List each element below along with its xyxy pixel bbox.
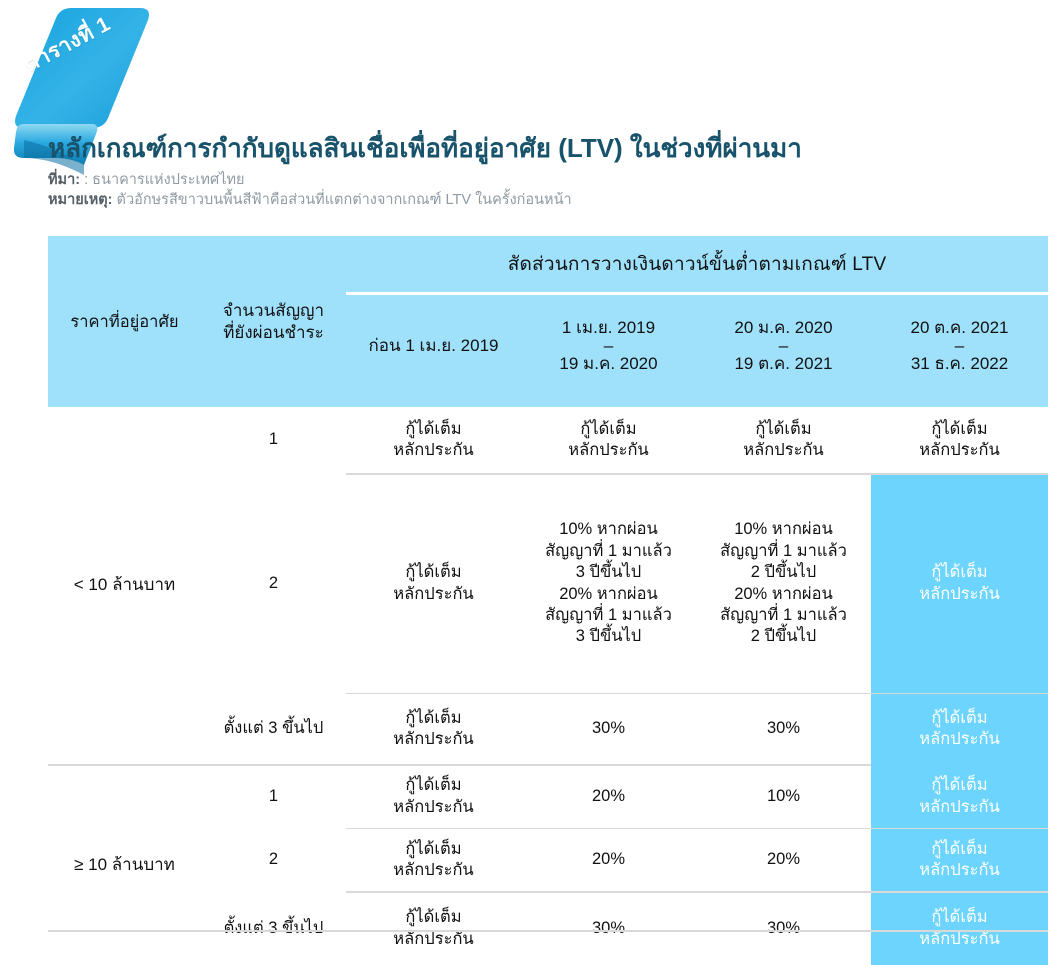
cell-text-line: 20% หากผ่อน xyxy=(521,584,696,605)
header-group-title: สัดส่วนการวางเงินดาวน์ขั้นต่ำตามเกณฑ์ LT… xyxy=(346,236,1048,292)
header-period-1: ก่อน 1 เม.ย. 2019 xyxy=(346,295,521,407)
cell-text-line: หลักประกัน xyxy=(346,929,521,950)
cell-text-line: หลักประกัน xyxy=(346,860,521,881)
value-cell: กู้ได้เต็มหลักประกัน xyxy=(346,407,521,473)
cell-text-line: กู้ได้เต็ม xyxy=(346,907,521,928)
cell-text-line: 20% xyxy=(696,849,871,870)
header-period-4: 20 ต.ค. 2021 – 31 ธ.ค. 2022 xyxy=(871,295,1048,407)
cell-text-line: 20% xyxy=(521,849,696,870)
cell-text-line: สัญญาที่ 1 มาแล้ว xyxy=(696,541,871,562)
cell-text-line: หลักประกัน xyxy=(346,584,521,605)
contract-count-cell: ตั้งแต่ 3 ขึ้นไป xyxy=(201,893,346,965)
value-cell: กู้ได้เต็มหลักประกัน xyxy=(346,475,521,693)
value-cell: 20% xyxy=(521,829,696,891)
value-cell: กู้ได้เต็มหลักประกัน xyxy=(871,407,1048,473)
cell-text-line: กู้ได้เต็ม xyxy=(871,907,1048,928)
header-period-1-line1: ก่อน 1 เม.ย. 2019 xyxy=(346,335,521,357)
table-row: ≥ 10 ล้านบาท1กู้ได้เต็มหลักประกัน20%10%ก… xyxy=(48,766,1048,828)
cell-text-line: หลักประกัน xyxy=(871,729,1048,750)
cell-text-line: หลักประกัน xyxy=(696,440,871,461)
header-price: ราคาที่อยู่อาศัย xyxy=(48,236,201,407)
page-title: หลักเกณฑ์การกำกับดูแลสินเชื่อเพื่อที่อยู… xyxy=(48,134,1038,164)
cell-text-line: 3 ปีขึ้นไป xyxy=(521,562,696,583)
contract-count-cell: 2 xyxy=(201,475,346,693)
cell-text-line: กู้ได้เต็ม xyxy=(346,419,521,440)
cell-text-line: 2 ปีขึ้นไป xyxy=(696,626,871,647)
heading-block: หลักเกณฑ์การกำกับดูแลสินเชื่อเพื่อที่อยู… xyxy=(48,134,1038,211)
cell-text-line: หลักประกัน xyxy=(871,860,1048,881)
cell-text-line: กู้ได้เต็ม xyxy=(871,839,1048,860)
highlighted-value-cell: กู้ได้เต็มหลักประกัน xyxy=(871,893,1048,965)
cell-text-line: กู้ได้เต็ม xyxy=(871,708,1048,729)
price-cell: < 10 ล้านบาท xyxy=(48,407,201,764)
cell-text-line: กู้ได้เต็ม xyxy=(521,419,696,440)
cell-text-line: หลักประกัน xyxy=(346,797,521,818)
header-price-label: ราคาที่อยู่อาศัย xyxy=(70,313,178,331)
table-row: < 10 ล้านบาท1กู้ได้เต็มหลักประกันกู้ได้เ… xyxy=(48,407,1048,473)
value-cell: 10% xyxy=(696,766,871,828)
cell-text-line: สัญญาที่ 1 มาแล้ว xyxy=(521,541,696,562)
table-bottom-rule xyxy=(48,930,1048,932)
highlighted-value-cell: กู้ได้เต็มหลักประกัน xyxy=(871,829,1048,891)
value-cell: 30% xyxy=(521,694,696,764)
contract-count-cell: 2 xyxy=(201,829,346,891)
value-cell: 20% xyxy=(521,766,696,828)
cell-text-line: 10% หากผ่อน xyxy=(521,519,696,540)
cell-text-line: กู้ได้เต็ม xyxy=(346,562,521,583)
cell-text-line: กู้ได้เต็ม xyxy=(346,708,521,729)
value-cell: 10% หากผ่อนสัญญาที่ 1 มาแล้ว2 ปีขึ้นไป20… xyxy=(696,475,871,693)
source-value: : ธนาคารแห่งประเทศไทย xyxy=(84,172,244,188)
highlighted-value-cell: กู้ได้เต็มหลักประกัน xyxy=(871,475,1048,693)
note-value: ตัวอักษรสีขาวบนพื้นสีฟ้าคือส่วนที่แตกต่า… xyxy=(117,192,572,208)
highlighted-value-cell: กู้ได้เต็มหลักประกัน xyxy=(871,766,1048,828)
header-period-3-line2: 19 ต.ค. 2021 xyxy=(696,353,871,375)
cell-text-line: สัญญาที่ 1 มาแล้ว xyxy=(521,605,696,626)
value-cell: 10% หากผ่อนสัญญาที่ 1 มาแล้ว3 ปีขึ้นไป20… xyxy=(521,475,696,693)
price-cell: ≥ 10 ล้านบาท xyxy=(48,766,201,965)
header-period-3-dash: – xyxy=(696,339,871,353)
value-cell: 20% xyxy=(696,829,871,891)
header-period-4-dash: – xyxy=(871,339,1048,353)
table-head: ราคาที่อยู่อาศัย จำนวนสัญญา ที่ยังผ่อนชำ… xyxy=(48,236,1048,407)
cell-text-line: สัญญาที่ 1 มาแล้ว xyxy=(696,605,871,626)
cell-text-line: 10% หากผ่อน xyxy=(696,519,871,540)
value-cell: กู้ได้เต็มหลักประกัน xyxy=(346,893,521,965)
header-contract-count: จำนวนสัญญา ที่ยังผ่อนชำระ xyxy=(201,236,346,407)
cell-text-line: กู้ได้เต็ม xyxy=(871,419,1048,440)
cell-text-line: 30% xyxy=(521,718,696,739)
note-line: หมายเหตุ: ตัวอักษรสีขาวบนพื้นสีฟ้าคือส่ว… xyxy=(48,190,1038,211)
cell-text-line: หลักประกัน xyxy=(346,440,521,461)
header-count-line2: ที่ยังผ่อนชำระ xyxy=(201,322,346,344)
table-body: < 10 ล้านบาท1กู้ได้เต็มหลักประกันกู้ได้เ… xyxy=(48,407,1048,965)
header-period-2-dash: – xyxy=(521,339,696,353)
value-cell: 30% xyxy=(696,893,871,965)
ltv-criteria-table: ราคาที่อยู่อาศัย จำนวนสัญญา ที่ยังผ่อนชำ… xyxy=(48,236,1048,965)
header-period-2-line2: 19 ม.ค. 2020 xyxy=(521,353,696,375)
cell-text-line: กู้ได้เต็ม xyxy=(696,419,871,440)
value-cell: 30% xyxy=(521,893,696,965)
cell-text-line: 30% xyxy=(521,918,696,939)
cell-text-line: กู้ได้เต็ม xyxy=(871,775,1048,796)
cell-text-line: 10% xyxy=(696,786,871,807)
header-group-row: ราคาที่อยู่อาศัย จำนวนสัญญา ที่ยังผ่อนชำ… xyxy=(48,236,1048,292)
contract-count-cell: 1 xyxy=(201,766,346,828)
value-cell: กู้ได้เต็มหลักประกัน xyxy=(346,766,521,828)
highlighted-value-cell: กู้ได้เต็มหลักประกัน xyxy=(871,694,1048,764)
source-line: ที่มา: : ธนาคารแห่งประเทศไทย xyxy=(48,170,1038,191)
value-cell: กู้ได้เต็มหลักประกัน xyxy=(346,694,521,764)
cell-text-line: 20% xyxy=(521,786,696,807)
cell-text-line: 2 ปีขึ้นไป xyxy=(696,562,871,583)
ribbon-label: ตารางที่ 1 xyxy=(18,0,166,81)
cell-text-line: หลักประกัน xyxy=(871,584,1048,605)
source-label: ที่มา: xyxy=(48,172,80,188)
contract-count-cell: 1 xyxy=(201,407,346,473)
note-label: หมายเหตุ: xyxy=(48,192,113,208)
cell-text-line: หลักประกัน xyxy=(521,440,696,461)
cell-text-line: หลักประกัน xyxy=(871,929,1048,950)
cell-text-line: 20% หากผ่อน xyxy=(696,584,871,605)
value-cell: 30% xyxy=(696,694,871,764)
cell-text-line: 30% xyxy=(696,918,871,939)
cell-text-line: กู้ได้เต็ม xyxy=(871,562,1048,583)
contract-count-cell: ตั้งแต่ 3 ขึ้นไป xyxy=(201,694,346,764)
header-period-3: 20 ม.ค. 2020 – 19 ต.ค. 2021 xyxy=(696,295,871,407)
cell-text-line: หลักประกัน xyxy=(871,440,1048,461)
cell-text-line: 3 ปีขึ้นไป xyxy=(521,626,696,647)
cell-text-line: กู้ได้เต็ม xyxy=(346,775,521,796)
cell-text-line: กู้ได้เต็ม xyxy=(346,839,521,860)
value-cell: กู้ได้เต็มหลักประกัน xyxy=(696,407,871,473)
value-cell: กู้ได้เต็มหลักประกัน xyxy=(346,829,521,891)
cell-text-line: หลักประกัน xyxy=(871,797,1048,818)
cell-text-line: หลักประกัน xyxy=(346,729,521,750)
cell-text-line: 30% xyxy=(696,718,871,739)
header-period-4-line2: 31 ธ.ค. 2022 xyxy=(871,353,1048,375)
header-count-line1: จำนวนสัญญา xyxy=(201,300,346,322)
value-cell: กู้ได้เต็มหลักประกัน xyxy=(521,407,696,473)
header-period-2: 1 เม.ย. 2019 – 19 ม.ค. 2020 xyxy=(521,295,696,407)
